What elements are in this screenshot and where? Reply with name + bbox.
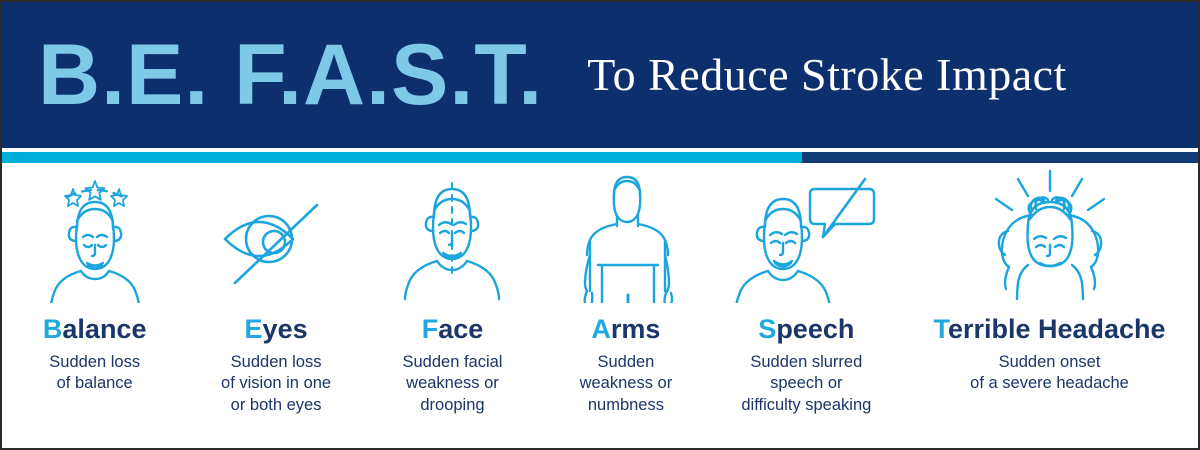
term-initial: B [43,314,63,344]
description-balance: Sudden loss of balance [49,352,140,396]
dizzy-head-with-stars-icon [33,168,157,303]
term-initial: S [758,314,776,344]
term-label-balance: Balance [43,315,147,345]
symptom-column-terrible-headache: Terrible Headache Sudden onset of a seve… [901,168,1198,395]
drooping-arm-person-icon [564,168,688,303]
face-droop-icon [390,168,514,303]
symptom-column-speech: Speech Sudden slurred speech or difficul… [712,168,901,417]
term-initial: F [422,314,439,344]
crossed-out-speech-bubble-head-icon [731,168,881,303]
symptom-column-face: Face Sudden facial weakness or drooping [365,168,540,417]
term-rest: errible Headache [948,314,1166,344]
befast-infographic: B.E. F.A.S.T. To Reduce Stroke Impact [0,0,1200,450]
accent-bar [2,152,1198,163]
accent-bar-navy-segment [802,152,1198,163]
term-initial: A [591,314,611,344]
term-label-speech: Speech [758,315,854,345]
acronym-title: B.E. F.A.S.T. [38,32,543,118]
description-speech: Sudden slurred speech or difficulty spea… [741,352,871,417]
term-label-face: Face [422,315,484,345]
description-arms: Sudden weakness or numbness [580,352,673,417]
head-pain-hands-icon [970,168,1130,303]
header-subtitle: To Reduce Stroke Impact [587,52,1067,98]
description-face: Sudden facial weakness or drooping [402,352,502,417]
symptom-column-eyes: Eyes Sudden loss of vision in one or bot… [187,168,364,417]
term-rest: peech [776,314,854,344]
term-rest: alance [62,314,146,344]
accent-bar-cyan-segment [2,152,802,163]
description-eyes: Sudden loss of vision in one or both eye… [221,352,331,417]
header-banner: B.E. F.A.S.T. To Reduce Stroke Impact [2,2,1198,148]
symptom-column-arms: Arms Sudden weakness or numbness [540,168,711,417]
description-terrible-headache: Sudden onset of a severe headache [970,352,1129,396]
term-initial: T [933,314,948,344]
term-label-eyes: Eyes [245,315,308,345]
term-label-terrible-headache: Terrible Headache [933,315,1165,345]
term-initial: E [245,314,263,344]
symptom-columns: Balance Sudden loss of balance Eyes Sudd… [2,168,1198,448]
symptom-column-balance: Balance Sudden loss of balance [2,168,187,395]
term-rest: yes [263,314,308,344]
term-label-arms: Arms [591,315,660,345]
crossed-out-eye-icon [209,168,343,303]
term-rest: ace [438,314,483,344]
term-rest: rms [611,314,661,344]
